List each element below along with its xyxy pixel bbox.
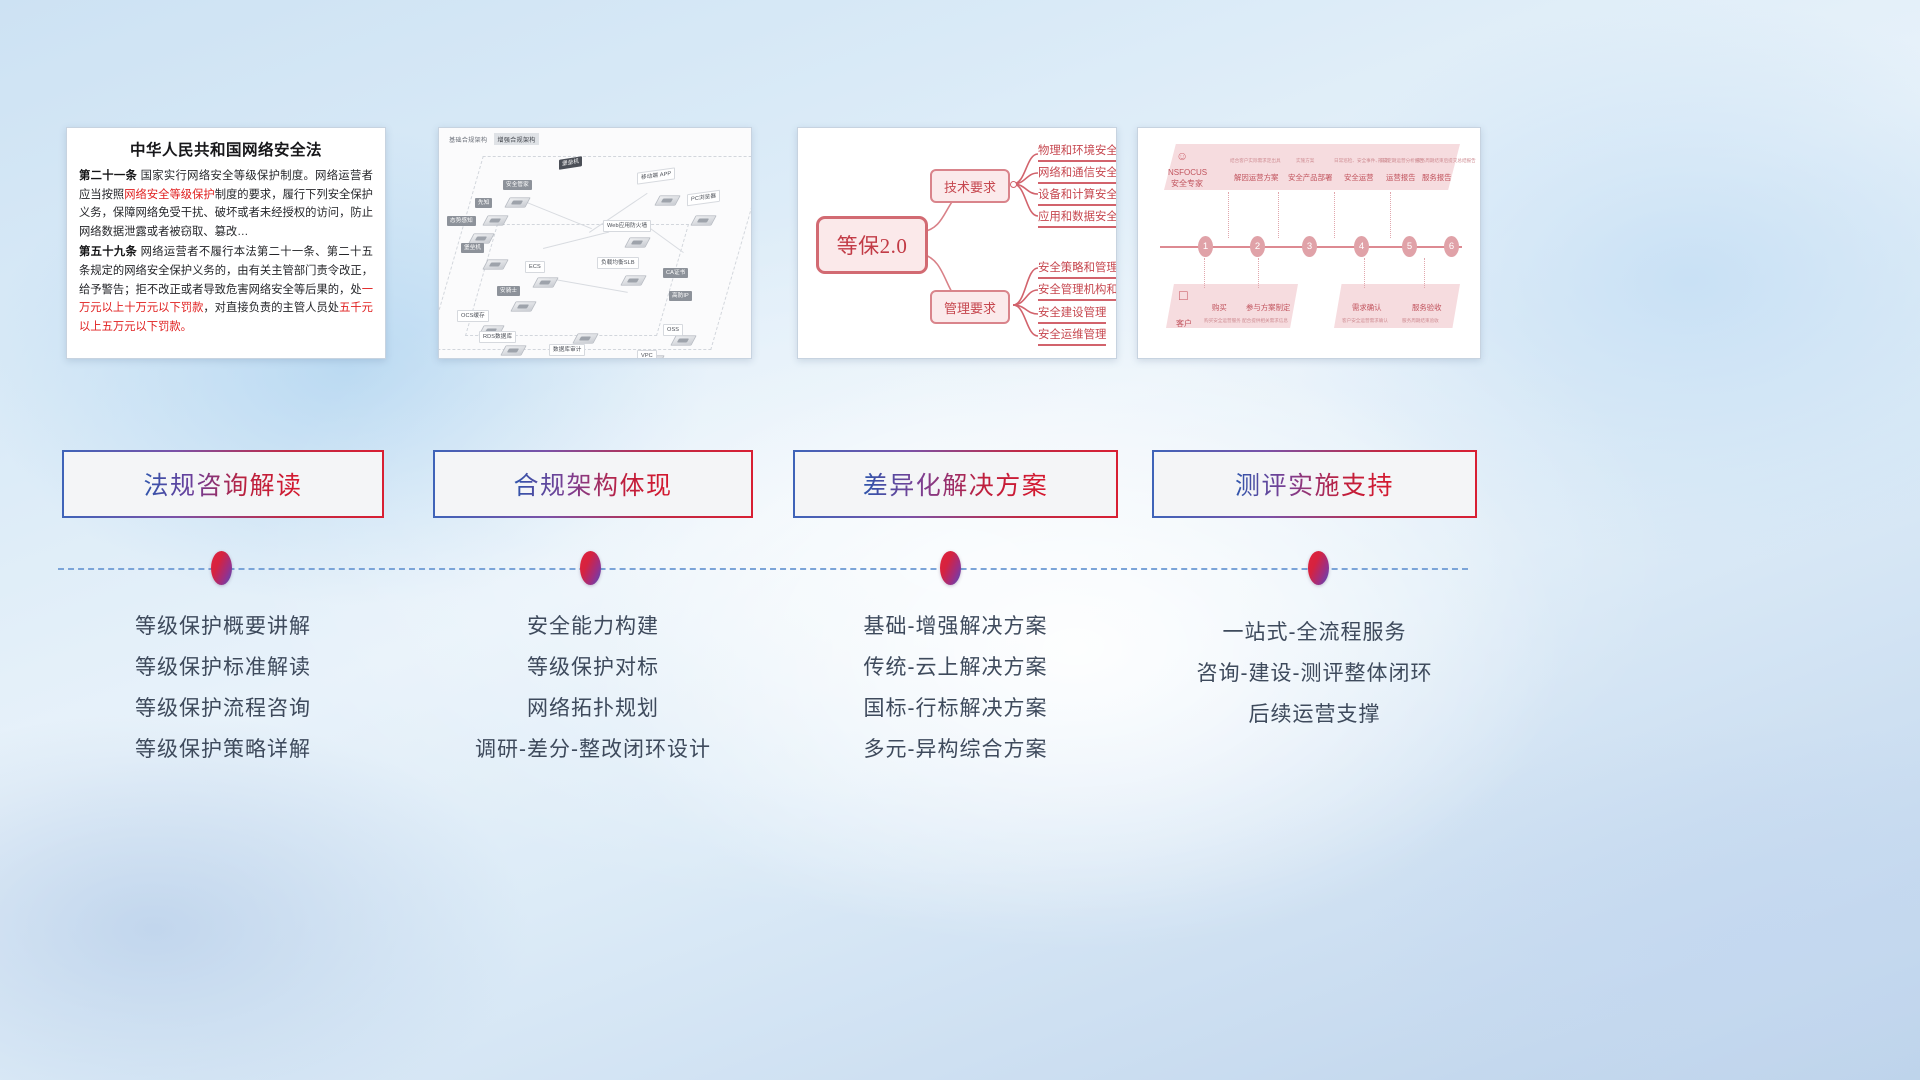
mindmap-branch-dot bbox=[1010, 181, 1017, 188]
architecture-tag: VPC bbox=[637, 350, 657, 359]
nsfocus-tick bbox=[1424, 258, 1426, 288]
mindmap-leaf: 物理和环境安全 bbox=[1038, 142, 1117, 162]
detail-item: 传统-云上解决方案 bbox=[793, 647, 1118, 688]
detail-item: 基础-增强解决方案 bbox=[793, 606, 1118, 647]
architecture-tag: 高防IP bbox=[669, 291, 692, 301]
law-document-body: 中华人民共和国网络安全法 第二十一条 国家实行网络安全等级保护制度。网络运营者应… bbox=[67, 128, 385, 358]
detail-item: 多元-异构综合方案 bbox=[793, 729, 1118, 770]
detail-item: 等级保护流程咨询 bbox=[62, 688, 384, 729]
card-nsfocus-timeline[interactable]: ☺ NSFOCUS 安全专家 ☐ 客户 结合客户实际需求定出具 解因运营方案 实… bbox=[1137, 127, 1481, 359]
architecture-tag: 负载均衡SLB bbox=[597, 257, 639, 269]
detail-item: 国标-行标解决方案 bbox=[793, 688, 1118, 729]
mindmap-leaf: 网络和通信安全 bbox=[1038, 164, 1117, 184]
architecture-tag: OCS缓存 bbox=[457, 310, 489, 322]
detail-item: 安全能力构建 bbox=[433, 606, 753, 647]
article-21-run-1-highlight: 网络安全等级保护 bbox=[124, 189, 214, 201]
tab-basic-architecture[interactable]: 基础合规架构 bbox=[446, 133, 490, 145]
nsfocus-step-number: 2 bbox=[1250, 236, 1265, 257]
nsfocus-step-number: 3 bbox=[1302, 236, 1317, 257]
detail-column-regulation-consulting: 等级保护概要讲解 等级保护标准解读 等级保护流程咨询 等级保护策略详解 bbox=[62, 606, 384, 770]
timeline-dot-1 bbox=[211, 551, 232, 585]
tab-enhanced-architecture[interactable]: 增强合规架构 bbox=[494, 133, 538, 145]
nsfocus-step-number: 4 bbox=[1354, 236, 1369, 257]
architecture-node-icon bbox=[511, 296, 537, 314]
customer-role-label: 客户 bbox=[1176, 318, 1192, 329]
nsfocus-brand-label: NSFOCUS bbox=[1168, 168, 1207, 177]
article-number-21: 第二十一条 bbox=[79, 170, 137, 182]
nsfocus-step-sub: 实施方案 bbox=[1296, 158, 1314, 164]
detail-item: 后续运营支撑 bbox=[1152, 694, 1477, 735]
nsfocus-step-sub: 服务周期结束后提交总结报告 bbox=[1416, 158, 1476, 164]
architecture-tag: 安骑士 bbox=[497, 286, 520, 296]
detail-item: 调研-差分-整改闭环设计 bbox=[433, 729, 753, 770]
nsfocus-tick bbox=[1334, 192, 1336, 238]
category-box-assessment-support[interactable]: 测评实施支持 bbox=[1152, 450, 1477, 518]
timeline-dot-4 bbox=[1308, 551, 1329, 585]
detail-item: 一站式-全流程服务 bbox=[1152, 612, 1477, 653]
article-number-59: 第五十九条 bbox=[79, 246, 137, 258]
mindmap-core-node: 等保2.0 bbox=[816, 216, 928, 274]
customer-icon: ☐ bbox=[1178, 290, 1189, 302]
nsfocus-customer-step-title: 购买 bbox=[1212, 302, 1227, 313]
nsfocus-provider-band bbox=[1164, 144, 1460, 190]
architecture-tabs[interactable]: 基础合规架构 增强合规架构 bbox=[446, 133, 539, 145]
nsfocus-customer-step-sub: 服务周期结束验收 bbox=[1402, 318, 1439, 324]
architecture-node-icon bbox=[533, 272, 559, 290]
detail-item: 咨询-建设-测评整体闭环 bbox=[1152, 653, 1477, 694]
law-article-59: 第五十九条 网络运营者不履行本法第二十一条、第二十五条规定的网络安全保护义务的，… bbox=[79, 243, 373, 336]
detail-column-compliance-architecture: 安全能力构建 等级保护对标 网络拓扑规划 调研-差分-整改闭环设计 bbox=[433, 606, 753, 770]
nsfocus-tick bbox=[1258, 258, 1260, 288]
nsfocus-step-title: 安全产品部署 bbox=[1288, 172, 1332, 183]
architecture-canvas: 基础合规架构 增强合规架构 堡垒机 bbox=[439, 128, 751, 358]
slide-stage: 中华人民共和国网络安全法 第二十一条 国家实行网络安全等级保护制度。网络运营者应… bbox=[0, 0, 1920, 1080]
nsfocus-step-number: 6 bbox=[1444, 236, 1459, 257]
nsfocus-step-number: 5 bbox=[1402, 236, 1417, 257]
architecture-node-icon bbox=[505, 192, 531, 210]
architecture-node-icon bbox=[621, 270, 647, 288]
timeline-dot-2 bbox=[580, 551, 601, 585]
architecture-tag: CA证书 bbox=[663, 268, 688, 278]
nsfocus-step-title: 运营报告 bbox=[1386, 172, 1416, 183]
nsfocus-customer-step-title: 服务验收 bbox=[1412, 302, 1442, 313]
category-box-compliance-architecture[interactable]: 合规架构体现 bbox=[433, 450, 753, 518]
architecture-tag: OSS bbox=[663, 324, 683, 336]
architecture-tag: ECS bbox=[525, 261, 545, 273]
detail-item: 等级保护概要讲解 bbox=[62, 606, 384, 647]
nsfocus-customer-step-sub: 配合提供相关需求信息 bbox=[1242, 318, 1288, 324]
mindmap-canvas: 等保2.0 技术要求 管理要求 物理和环境安全 网络和通信安全 设备和计算安全 … bbox=[798, 128, 1116, 358]
nsfocus-tick bbox=[1364, 258, 1366, 288]
law-article-21: 第二十一条 国家实行网络安全等级保护制度。网络运营者应当按照网络安全等级保护制度… bbox=[79, 167, 373, 241]
card-dengbao-mindmap[interactable]: 等保2.0 技术要求 管理要求 物理和环境安全 网络和通信安全 设备和计算安全 … bbox=[797, 127, 1117, 359]
architecture-tag: 堡垒机 bbox=[461, 243, 484, 253]
architecture-tag: 态势感知 bbox=[447, 216, 476, 226]
detail-item: 网络拓扑规划 bbox=[433, 688, 753, 729]
mindmap-leaf: 应用和数据安全 bbox=[1038, 208, 1117, 228]
nsfocus-tick bbox=[1278, 192, 1280, 238]
nsfocus-tick bbox=[1228, 192, 1230, 238]
mindmap-leaf: 安全建设管理 bbox=[1038, 304, 1106, 324]
category-label: 合规架构体现 bbox=[513, 466, 672, 502]
nsfocus-canvas: ☺ NSFOCUS 安全专家 ☐ 客户 结合客户实际需求定出具 解因运营方案 实… bbox=[1138, 128, 1480, 358]
architecture-node-icon bbox=[483, 210, 509, 228]
architecture-tag: RDS数据库 bbox=[479, 331, 516, 343]
category-label: 法规咨询解读 bbox=[143, 466, 302, 502]
category-label: 差异化解决方案 bbox=[863, 466, 1049, 502]
nsfocus-step-title: 解因运营方案 bbox=[1234, 172, 1278, 183]
nsfocus-tick bbox=[1390, 192, 1392, 238]
mindmap-branch-technical: 技术要求 bbox=[930, 169, 1010, 203]
timeline-dashed-line bbox=[58, 568, 1468, 570]
mindmap-leaf: 安全策略和管理制度 bbox=[1038, 259, 1117, 279]
detail-item: 等级保护标准解读 bbox=[62, 647, 384, 688]
security-expert-icon: ☺ bbox=[1176, 150, 1188, 162]
mindmap-leaf: 安全管理机构和人员 bbox=[1038, 281, 1117, 301]
nsfocus-step-sub: 结合客户实际需求定出具 bbox=[1230, 158, 1281, 164]
mindmap-branch-management: 管理要求 bbox=[930, 290, 1010, 324]
article-59-run-2: ，对直接负责的主管人员处 bbox=[203, 302, 339, 314]
nsfocus-customer-step-sub: 客户安全运营需求确认 bbox=[1342, 318, 1388, 324]
architecture-node-icon bbox=[691, 210, 717, 228]
detail-column-differentiated-solution: 基础-增强解决方案 传统-云上解决方案 国标-行标解决方案 多元-异构综合方案 bbox=[793, 606, 1118, 770]
architecture-node-icon bbox=[483, 254, 509, 272]
architecture-tag: 先知 bbox=[475, 198, 492, 208]
architecture-tag: 安全管家 bbox=[503, 180, 532, 190]
nsfocus-step-title: 安全运营 bbox=[1344, 172, 1374, 183]
law-document-title: 中华人民共和国网络安全法 bbox=[79, 138, 373, 160]
nsfocus-customer-step-title: 参与方案制定 bbox=[1246, 302, 1290, 313]
nsfocus-step-title: 服务报告 bbox=[1422, 172, 1452, 183]
category-box-regulation-consulting[interactable]: 法规咨询解读 bbox=[62, 450, 384, 518]
category-label: 测评实施支持 bbox=[1235, 466, 1394, 502]
mindmap-leaf: 安全运维管理 bbox=[1038, 326, 1106, 346]
architecture-tag: 数据库审计 bbox=[549, 344, 585, 356]
card-law-document[interactable]: 中华人民共和国网络安全法 第二十一条 国家实行网络安全等级保护制度。网络运营者应… bbox=[66, 127, 386, 359]
category-box-differentiated-solution[interactable]: 差异化解决方案 bbox=[793, 450, 1118, 518]
detail-item: 等级保护对标 bbox=[433, 647, 753, 688]
architecture-node-icon bbox=[625, 232, 651, 250]
nsfocus-customer-step-sub: 购买安全运营服务 bbox=[1204, 318, 1241, 324]
mindmap-leaf: 设备和计算安全 bbox=[1038, 186, 1117, 206]
nsfocus-role-label: 安全专家 bbox=[1171, 178, 1203, 189]
detail-column-assessment-support: 一站式-全流程服务 咨询-建设-测评整体闭环 后续运营支撑 bbox=[1152, 612, 1477, 735]
architecture-node-icon bbox=[655, 190, 681, 208]
card-cloud-architecture[interactable]: 基础合规架构 增强合规架构 堡垒机 bbox=[438, 127, 752, 359]
nsfocus-customer-step-title: 需求确认 bbox=[1352, 302, 1382, 313]
nsfocus-step-number: 1 bbox=[1198, 236, 1213, 257]
nsfocus-tick bbox=[1204, 258, 1206, 288]
detail-item: 等级保护策略详解 bbox=[62, 729, 384, 770]
architecture-tag: Web应用防火墙 bbox=[603, 220, 651, 232]
timeline-dot-3 bbox=[940, 551, 961, 585]
